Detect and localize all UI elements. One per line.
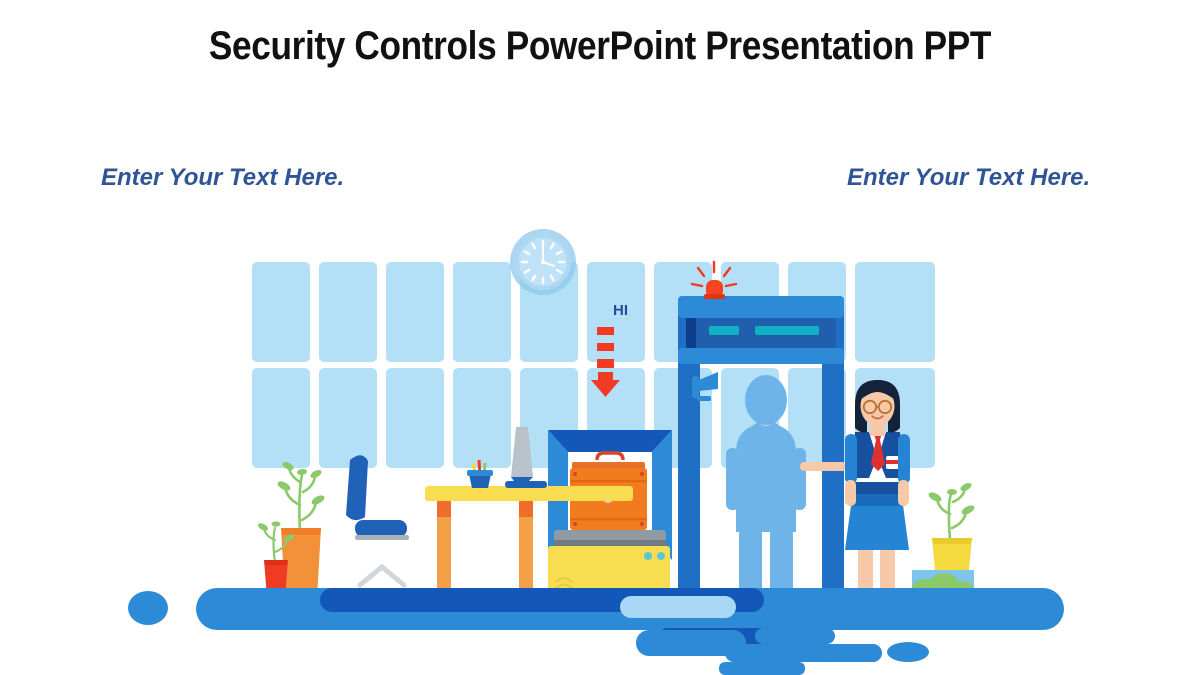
wall-tile — [453, 262, 511, 362]
officer-skirt — [845, 505, 909, 550]
office-chair — [346, 455, 409, 585]
floor-bar — [755, 628, 835, 644]
floor-bar — [820, 644, 882, 662]
wall-tile — [386, 368, 444, 468]
floor-dot — [887, 642, 929, 662]
floor-bar — [719, 662, 805, 675]
gate-indicator-light — [709, 326, 739, 335]
gate-indicator-light — [755, 326, 819, 335]
floor-light-bar — [620, 596, 736, 618]
wall-tile — [386, 262, 444, 362]
wall-tile — [252, 368, 310, 468]
floor-group — [128, 588, 1064, 675]
desk-top — [425, 486, 633, 501]
monitor-base — [505, 481, 547, 488]
wall-tile — [900, 262, 935, 362]
alert-label: HI — [613, 302, 628, 319]
officer-belt — [850, 482, 905, 494]
wall-clock — [510, 229, 576, 295]
presentation-slide: Security Controls PowerPoint Presentatio… — [0, 0, 1200, 675]
floor-bar — [725, 644, 835, 662]
security-checkpoint-illustration: HI — [0, 0, 1200, 675]
chair-seat — [355, 520, 407, 537]
floor-dot — [128, 591, 168, 625]
xray-baggage-scanner — [536, 430, 684, 605]
officer-arm — [800, 462, 846, 471]
wall-tile — [453, 368, 511, 468]
wall-tile — [252, 262, 310, 362]
wall-tile — [319, 262, 377, 362]
wall-tile — [319, 368, 377, 468]
